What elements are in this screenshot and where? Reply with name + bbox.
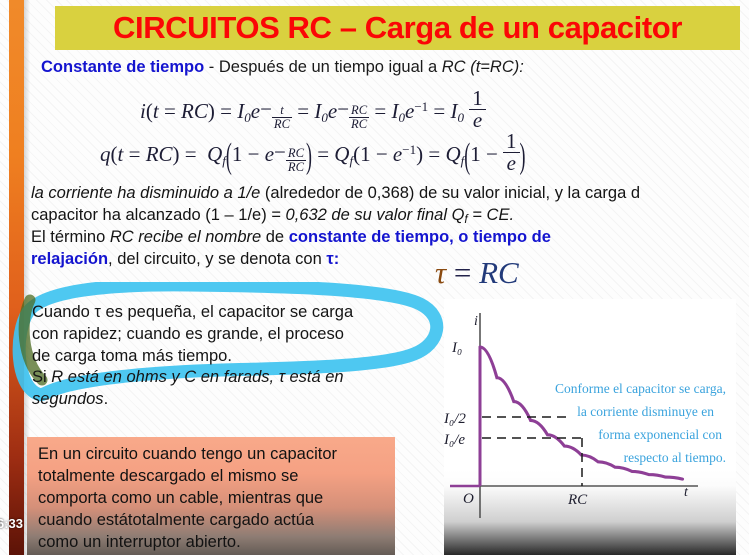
lead-line: Constante de tiempo - Después de un tiem… — [41, 57, 524, 78]
exponential-decay-chart: i t O I₀ I₀/2 I₀/e RC Conforme el capaci… — [444, 299, 736, 558]
block1-line-4: Si R está en ohms y C en farads, τ está … — [32, 367, 432, 389]
para-line-2-italic: 0,632 de su valor final Q — [286, 206, 465, 224]
lead-rest-a: Después de un tiempo igual a — [219, 58, 442, 76]
chart-ylabel: i — [474, 314, 478, 329]
note-line-1: En un circuito cuando tengo un capacitor — [38, 444, 385, 466]
chart-origin-label: O — [463, 491, 474, 507]
para-line-3: El término RC recibe el nombre de consta… — [31, 227, 749, 249]
para-line-3-a: El término — [31, 228, 110, 246]
chart-annotation-line-1: Conforme el capacitor se carga, — [555, 381, 726, 396]
slide-canvas: CIRCUITOS RC – Carga de un capacitor Con… — [0, 0, 749, 558]
chart-ytick-1: I₀/2 — [444, 411, 466, 427]
chart-annotation-line-2: la corriente disminuye en — [577, 404, 714, 419]
chart-ytick-2: I₀/e — [444, 432, 465, 448]
para-line-4-bold: relajación — [31, 250, 108, 268]
note-line-3: comporta como un cable, mientras que — [38, 488, 385, 510]
para-line-3-bold: constante de tiempo, o tiempo de — [289, 228, 551, 246]
block1-line-5-end: . — [104, 390, 109, 408]
para-line-2: capacitor ha alcanzado (1 – 1/e) = 0,632… — [31, 205, 749, 228]
para-line-1-rest: (alrededor de 0,368) de su valor inicial… — [260, 184, 640, 202]
page-title: CIRCUITOS RC – Carga de un capacitor — [113, 10, 682, 46]
para-line-4: relajación, del circuito, y se denota co… — [31, 249, 749, 271]
para-line-1-italic: la corriente ha disminuido a 1/e — [31, 184, 260, 202]
tau-description-block: Cuando τ es pequeña, el capacitor se car… — [32, 302, 432, 411]
para-line-2-end: = CE. — [468, 206, 514, 224]
lead-bold-label: Constante de tiempo — [41, 58, 204, 76]
block1-line-4-a: Si — [32, 368, 51, 386]
timestamp: 6:33 — [0, 516, 23, 531]
chart-ytick-0: I₀ — [451, 340, 462, 356]
note-line-5: como un interruptor abierto. — [38, 532, 385, 554]
equation-current: i(t = RC) = I0e−tRC = I0e−RCRC = I0e−1 =… — [140, 88, 486, 131]
block1-line-4-italic: R está en ohms y C en farads, τ está en — [51, 368, 343, 386]
left-decorative-bar — [9, 0, 24, 558]
block1-line-1: Cuando τ es pequeña, el capacitor se car… — [32, 302, 432, 324]
block1-line-3: de carga toma más tiempo. — [32, 346, 432, 368]
para-line-4-tau: τ: — [326, 250, 339, 268]
note-line-2: totalmente descargado el mismo se — [38, 466, 385, 488]
block1-line-5: segundos. — [32, 389, 432, 411]
equation-charge: q(t = RC) = Qf(1 − e−RCRC) = Qf(1 − e−1)… — [100, 131, 526, 174]
block1-line-2: con rapidez; cuando es grande, el proces… — [32, 324, 432, 346]
explanatory-paragraph: la corriente ha disminuido a 1/e (alrede… — [31, 183, 749, 270]
block1-line-5-italic: segundos — [32, 390, 104, 408]
lead-rc-italic: RC — [442, 58, 466, 76]
lead-dash: - — [204, 58, 219, 76]
para-line-3-italic: RC recibe el nombre — [110, 228, 261, 246]
chart-annotation-line-4: respecto al tiempo. — [624, 450, 726, 465]
slide-title-band: CIRCUITOS RC – Carga de un capacitor — [55, 6, 740, 50]
chart-xlabel: t — [684, 485, 689, 500]
para-line-3-b: de — [261, 228, 289, 246]
note-box: En un circuito cuando tengo un capacitor… — [27, 437, 395, 558]
chart-annotation-line-3: forma exponencial con — [598, 427, 722, 442]
para-line-4-rest: , del circuito, y se denota con — [108, 250, 326, 268]
chart-xtick-rc: RC — [567, 492, 588, 508]
chart-svg: i t O I₀ I₀/2 I₀/e RC Conforme el capaci… — [444, 299, 736, 558]
note-line-4: cuando estátotalmente cargado actúa — [38, 510, 385, 532]
para-line-1: la corriente ha disminuido a 1/e (alrede… — [31, 183, 749, 205]
lead-rest-b: (t=RC): — [466, 58, 524, 76]
para-line-2-a: capacitor ha alcanzado (1 – 1/e) = — [31, 206, 286, 224]
